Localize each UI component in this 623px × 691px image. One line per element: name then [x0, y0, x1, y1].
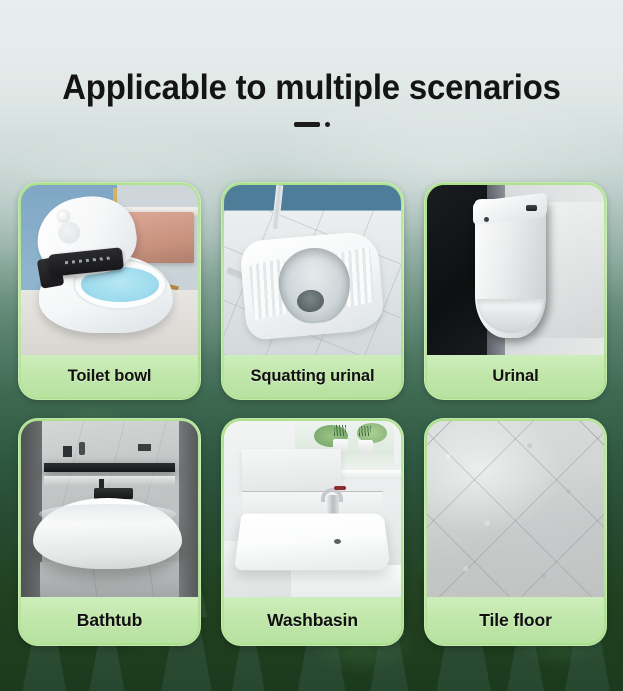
scenario-label: Urinal [427, 355, 604, 397]
dot-mark-icon [325, 122, 330, 127]
card-inner: Squatting urinal [224, 185, 401, 397]
scenario-label: Tile floor [427, 597, 604, 643]
scenario-label: Toilet bowl [21, 355, 198, 397]
scenario-card-tile-floor[interactable]: Tile floor [424, 418, 607, 646]
tile-floor-photo [427, 421, 604, 597]
card-inner: Bathtub [21, 421, 198, 643]
page-title: Applicable to multiple scenarios [19, 68, 605, 108]
scenario-card-urinal[interactable]: Urinal [424, 182, 607, 400]
smart-toilet-photo [21, 185, 198, 355]
scenario-card-washbasin[interactable]: Washbasin [221, 418, 404, 646]
wall-urinal-photo [427, 185, 604, 355]
squatting-pan-photo [224, 185, 401, 355]
card-inner: Urinal [427, 185, 604, 397]
dash-mark-icon [294, 122, 320, 127]
freestanding-bathtub-photo [21, 421, 198, 597]
scenario-card-bathtub[interactable]: Bathtub [18, 418, 201, 646]
promo-page: Applicable to multiple scenarios [0, 0, 623, 691]
title-decoration [0, 122, 623, 127]
card-inner: Toilet bowl [21, 185, 198, 397]
scenario-card-squatting-urinal[interactable]: Squatting urinal [221, 182, 404, 400]
washbasin-photo [224, 421, 401, 597]
scenario-label: Squatting urinal [224, 355, 401, 397]
card-inner: Tile floor [427, 421, 604, 643]
scenario-grid: Toilet bowl Squatting urinal [18, 182, 605, 646]
card-inner: Washbasin [224, 421, 401, 643]
scenario-label: Bathtub [21, 597, 198, 643]
scenario-label: Washbasin [224, 597, 401, 643]
scenario-card-toilet-bowl[interactable]: Toilet bowl [18, 182, 201, 400]
